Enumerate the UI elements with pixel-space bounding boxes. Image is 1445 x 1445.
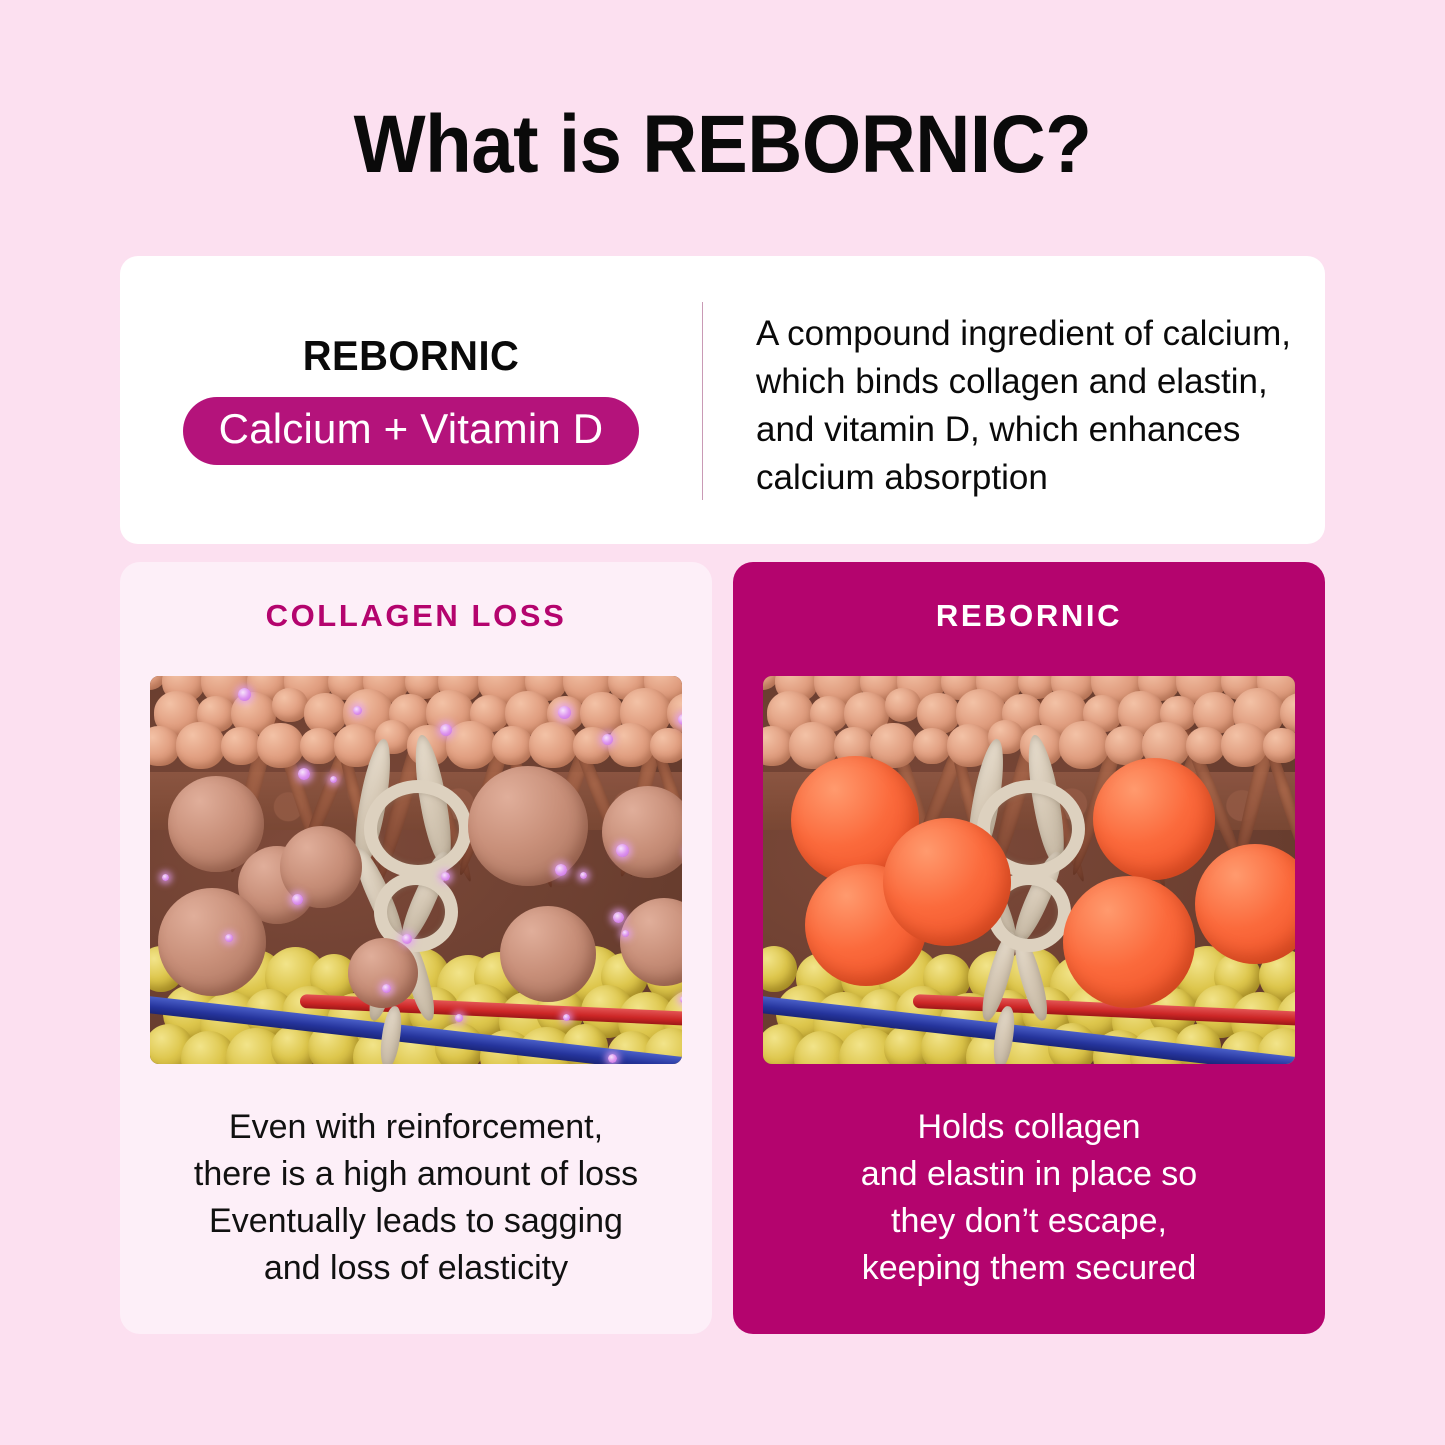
escaping-collagen-particle — [678, 714, 682, 725]
caption-line: Eventually leads to sagging — [120, 1198, 712, 1245]
escaping-collagen-particle — [558, 706, 571, 719]
caption-line: Holds collagen — [733, 1104, 1325, 1151]
escaping-collagen-particle — [680, 996, 682, 1003]
card-collagen-loss: COLLAGEN LOSS Even with reinforcement,th… — [120, 562, 712, 1334]
epidermis-cell — [446, 721, 496, 769]
vertical-divider — [702, 302, 703, 500]
escaping-collagen-particle — [440, 724, 452, 736]
escaping-collagen-particle — [555, 864, 567, 876]
comparison-row: COLLAGEN LOSS Even with reinforcement,th… — [120, 562, 1325, 1334]
page-title: What is REBORNIC? — [51, 104, 1395, 186]
epidermis-cell — [608, 723, 654, 767]
escaping-collagen-particle — [602, 734, 613, 745]
epidermis-cell — [573, 727, 612, 764]
card-caption-collagen-loss: Even with reinforcement,there is a high … — [120, 1104, 712, 1292]
epidermis-cell — [913, 728, 951, 764]
caption-line: and elastin in place so — [733, 1151, 1325, 1198]
collagen-sphere-loose — [158, 888, 266, 996]
ingredient-pill: Calcium + Vitamin D — [183, 397, 640, 465]
illustration-collagen-loss — [150, 676, 682, 1064]
escaping-collagen-particle — [402, 934, 412, 944]
collagen-sphere-secured — [883, 818, 1011, 946]
card-caption-rebornic: Holds collagenand elastin in place sothe… — [733, 1104, 1325, 1292]
info-card: REBORNIC Calcium + Vitamin D A compound … — [120, 256, 1325, 544]
epidermis-cell — [176, 722, 225, 769]
epidermis-cell — [492, 726, 533, 765]
card-rebornic: REBORNIC Holds collagenand elastin in pl… — [733, 562, 1325, 1334]
epidermis-cell — [300, 728, 338, 764]
escaping-collagen-particle — [238, 688, 251, 701]
escaping-collagen-particle — [162, 874, 169, 881]
caption-line: Even with reinforcement, — [120, 1104, 712, 1151]
escaping-collagen-particle — [455, 1014, 463, 1022]
escaping-collagen-particle — [563, 1014, 570, 1021]
epidermis-cell — [1059, 721, 1109, 769]
epidermis-cell — [272, 688, 308, 722]
collagen-sphere-secured — [1093, 758, 1215, 880]
card-heading-collagen-loss: COLLAGEN LOSS — [120, 600, 712, 631]
collagen-sphere-loose — [468, 766, 588, 886]
card-heading-rebornic: REBORNIC — [733, 600, 1325, 631]
escaping-collagen-particle — [441, 872, 450, 881]
collagen-sphere-secured — [1063, 876, 1195, 1008]
caption-line: there is a high amount of loss — [120, 1151, 712, 1198]
escaping-collagen-particle — [225, 934, 233, 942]
epidermis-cell — [221, 727, 261, 765]
escaping-collagen-particle — [616, 844, 629, 857]
epidermis-cell — [650, 728, 682, 763]
brand-name: REBORNIC — [303, 335, 520, 377]
escaping-collagen-particle — [330, 776, 337, 783]
epidermis-cell — [1221, 723, 1267, 767]
epidermis-cell — [529, 722, 577, 768]
escaping-collagen-particle — [353, 706, 362, 715]
escaping-collagen-particle — [622, 930, 629, 937]
escaping-collagen-particle — [608, 1054, 617, 1063]
collagen-sphere-loose — [500, 906, 596, 1002]
escaping-collagen-particle — [613, 912, 624, 923]
epidermis-cell — [1186, 727, 1225, 764]
escaping-collagen-particle — [298, 768, 310, 780]
caption-line: keeping them secured — [733, 1245, 1325, 1292]
epidermis-cell — [257, 723, 304, 768]
caption-line: and loss of elasticity — [120, 1245, 712, 1292]
escaping-collagen-particle — [292, 894, 303, 905]
collagen-sphere-loose — [348, 938, 418, 1008]
brand-block: REBORNIC Calcium + Vitamin D — [120, 256, 702, 544]
elastin-loop — [364, 780, 472, 878]
epidermis-cell — [885, 688, 921, 722]
fat-cell — [763, 946, 797, 992]
illustration-rebornic — [763, 676, 1295, 1064]
escaping-collagen-particle — [580, 872, 587, 879]
info-description: A compound ingredient of calcium, which … — [756, 310, 1301, 502]
epidermis-cell — [1263, 728, 1295, 763]
escaping-collagen-particle — [382, 984, 391, 993]
caption-line: they don’t escape, — [733, 1198, 1325, 1245]
